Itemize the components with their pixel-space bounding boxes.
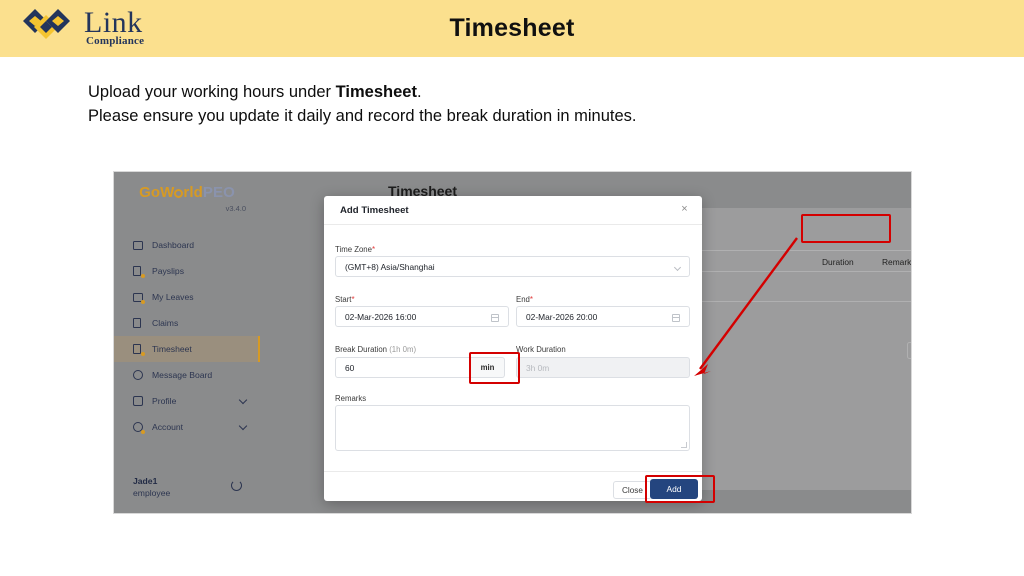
brand-w: W: [160, 184, 174, 201]
payslip-doc-icon: [133, 266, 144, 277]
app-version-label: v3.4.0: [226, 204, 246, 213]
page-title-heading: Timesheet: [0, 0, 1024, 57]
account-person-icon: [133, 422, 144, 433]
sidebar-item-account[interactable]: Account: [114, 414, 260, 440]
sidebar-item-payslips[interactable]: Payslips: [114, 258, 260, 284]
sidebar-item-message-board[interactable]: Message Board: [114, 362, 260, 388]
sidebar-item-label: Timesheet: [152, 344, 192, 354]
sidebar-item-label: Profile: [152, 396, 176, 406]
sidebar-item-dashboard[interactable]: Dashboard: [114, 232, 260, 258]
sidebar-item-label: Message Board: [152, 370, 212, 380]
annotation-highlight-min-unit: [469, 352, 520, 384]
instruction-line-1-bold: Timesheet: [336, 83, 417, 101]
modal-title: Add Timesheet: [340, 205, 409, 216]
annotation-highlight-add-button: [645, 475, 715, 503]
sidebar-item-label: Payslips: [152, 266, 184, 276]
brand-peo: PEO: [203, 184, 235, 201]
message-bubble-icon: [133, 370, 144, 381]
sidebar-item-my-leaves[interactable]: My Leaves: [114, 284, 260, 310]
brand-rld: rld: [183, 184, 202, 201]
instruction-line-2: Please ensure you update it daily and re…: [88, 104, 908, 128]
logout-icon[interactable]: [231, 480, 242, 491]
sidebar-item-label: Claims: [152, 318, 178, 328]
sidebar-user-info: Jade1 employee: [133, 475, 170, 499]
leave-calendar-icon: [133, 292, 144, 303]
brand-go: Go: [139, 184, 160, 201]
timesheet-icon: [133, 344, 144, 355]
instruction-text: Upload your working hours under Timeshee…: [88, 80, 908, 128]
close-icon[interactable]: ×: [679, 204, 690, 215]
page-banner: Link Compliance Timesheet: [0, 0, 1024, 57]
sidebar-item-timesheet[interactable]: Timesheet: [114, 336, 260, 362]
user-name: Jade1: [133, 475, 170, 487]
instruction-line-1: Upload your working hours under Timeshee…: [88, 80, 908, 104]
goworldpeo-logo: GoWrldPEO: [114, 184, 260, 201]
sidebar-item-label: My Leaves: [152, 292, 194, 302]
sidebar-item-label: Dashboard: [152, 240, 194, 250]
sidebar-item-label: Account: [152, 422, 183, 432]
monitor-icon: [133, 240, 144, 251]
app-sidebar: GoWrldPEO v3.4.0 Dashboard Payslips My L…: [114, 172, 260, 513]
instruction-line-1-after: .: [417, 83, 422, 101]
embedded-app-screenshot: GoWrldPEO v3.4.0 Dashboard Payslips My L…: [114, 172, 911, 513]
column-header-remarks: Remarks: [882, 257, 911, 267]
sidebar-item-profile[interactable]: Profile: [114, 388, 260, 414]
column-header-duration: Duration: [822, 257, 854, 267]
chevron-down-icon: [239, 396, 247, 404]
claims-doc-icon: [133, 318, 144, 329]
instruction-line-1-before: Upload your working hours under: [88, 83, 336, 101]
sidebar-item-claims[interactable]: Claims: [114, 310, 260, 336]
user-role: employee: [133, 487, 170, 499]
add-timesheet-modal: Add Timesheet ×: [324, 196, 702, 501]
user-badge-icon: [133, 396, 144, 407]
pagination-prev-button[interactable]: ‹: [907, 342, 911, 359]
chevron-down-icon: [239, 422, 247, 430]
annotation-highlight-add-timesheet: [801, 214, 891, 243]
